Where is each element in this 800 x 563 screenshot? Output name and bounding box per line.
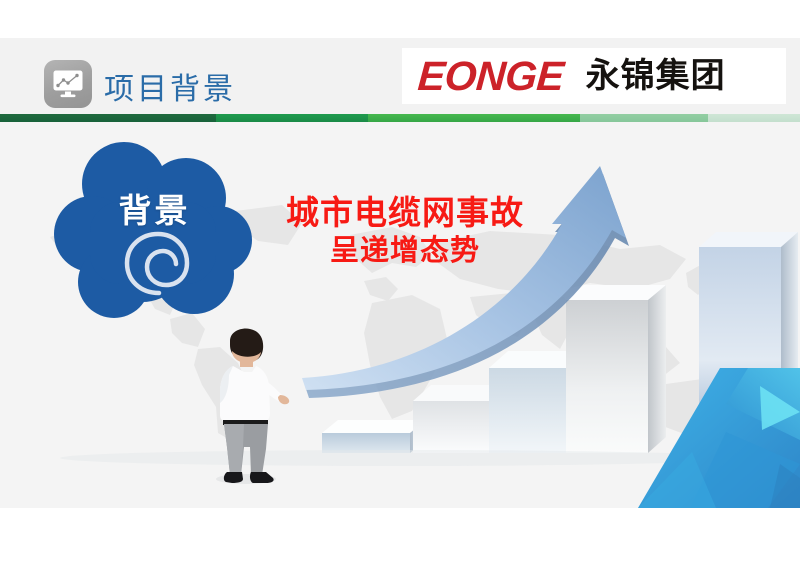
- slide-canvas: 项目背景 EONGE 永锦集团: [0, 0, 800, 563]
- divider-segment: [216, 114, 368, 122]
- company-logo: EONGE 永锦集团: [402, 48, 786, 104]
- headline-line-2: 呈递增态势: [250, 233, 560, 267]
- logo-wordmark: EONGE: [417, 56, 565, 97]
- businessman-back-view: [196, 327, 296, 487]
- green-divider: [0, 114, 800, 122]
- divider-segment: [368, 114, 580, 122]
- page-title: 项目背景: [104, 64, 236, 108]
- divider-segment: [580, 114, 708, 122]
- monitor-chart-icon: [44, 60, 92, 108]
- blue-polygon-corner: [630, 368, 800, 508]
- slide-body: 背景 城市电缆网事故 呈递增态势: [0, 122, 800, 508]
- headline-text: 城市电缆网事故 呈递增态势: [250, 194, 560, 267]
- divider-segment: [0, 114, 216, 122]
- logo-chinese-name: 永锦集团: [586, 59, 726, 93]
- bar-1: [322, 420, 426, 453]
- headline-line-1: 城市电缆网事故: [250, 194, 560, 233]
- cloud-badge: [52, 142, 257, 327]
- divider-segment: [708, 114, 800, 122]
